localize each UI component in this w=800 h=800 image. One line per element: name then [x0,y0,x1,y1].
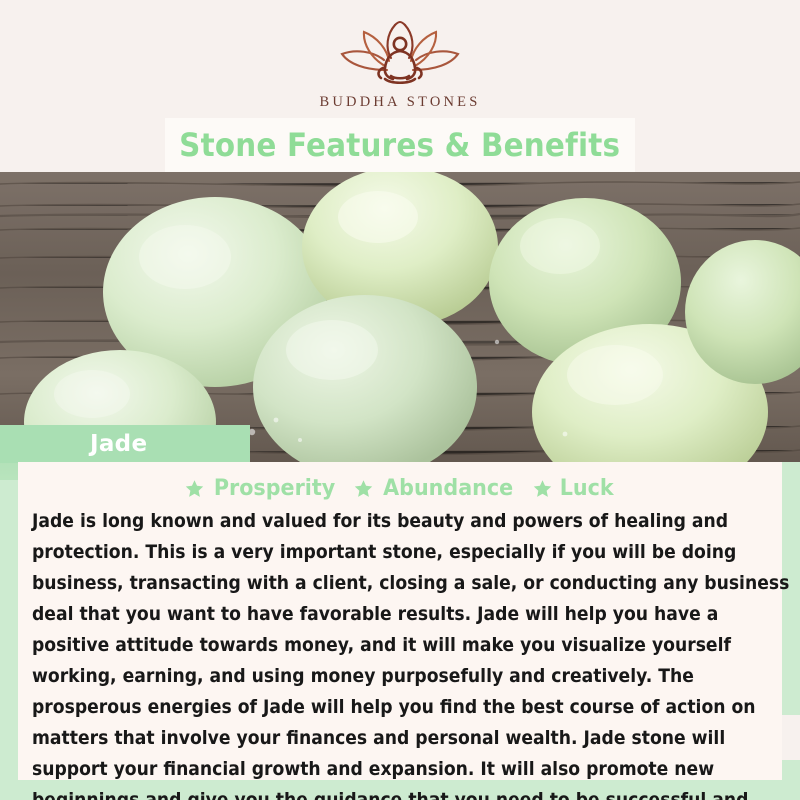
benefit-item: Prosperity [185,476,339,501]
star-icon [185,479,204,498]
star-icon [533,479,552,498]
benefit-label: Luck [559,476,613,501]
lotus-meditation-icon [325,18,475,90]
stone-name: Jade [90,431,147,457]
benefit-item: Luck [533,476,615,501]
benefit-item: Abundance [354,476,517,501]
stone-photo [0,172,800,462]
brand-logo: BUDDHA STONES [0,18,800,111]
benefits-list: Prosperity Abundance Luck [18,462,782,501]
benefit-label: Prosperity [214,476,335,501]
content-panel: Prosperity Abundance Luck Jade is long k… [18,462,782,780]
header: BUDDHA STONES Stone Features & Benefits [0,0,800,172]
poster-root: BUDDHA STONES Stone Features & Benefits [0,0,800,800]
star-icon [354,479,373,498]
brand-name: BUDDHA STONES [320,94,481,111]
stone-name-band: Jade [0,425,250,463]
title-band: Stone Features & Benefits [165,118,635,172]
stone-photo-graphic [0,172,800,462]
page-title: Stone Features & Benefits [179,126,620,164]
decor-green-left-lower [0,480,18,800]
stone-description: Jade is long known and valued for its be… [32,506,789,800]
benefit-label: Abundance [383,476,513,501]
